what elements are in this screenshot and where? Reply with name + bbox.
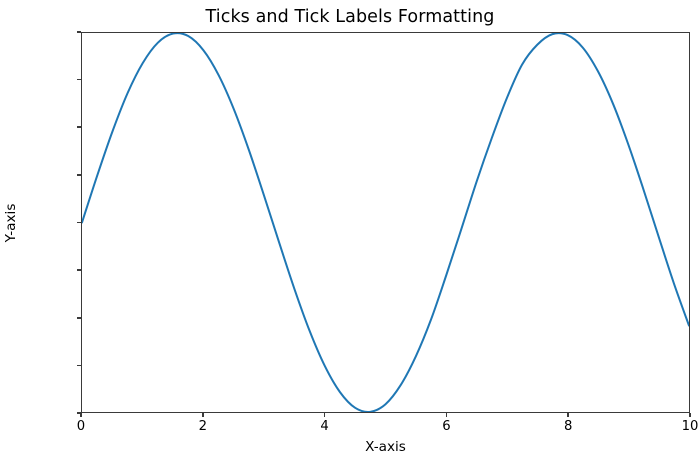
x-axis-tick-label: 2 — [143, 419, 263, 434]
line-series-svg — [82, 33, 689, 412]
x-axis-tick-label: 10 — [630, 419, 700, 434]
x-axis-tick-label: 6 — [386, 419, 506, 434]
x-axis-tick-label: 8 — [508, 419, 628, 434]
line-series-sin — [82, 33, 689, 412]
y-axis-label-container: Y-axis — [0, 32, 22, 413]
page-title: Ticks and Tick Labels Formatting — [0, 7, 700, 27]
x-axis-tick-mark — [324, 413, 326, 417]
matplotlib-figure: Ticks and Tick Labels Formatting Y-axis … — [0, 0, 700, 464]
x-axis-tick-mark — [80, 413, 82, 417]
x-axis-tick-mark — [689, 413, 691, 417]
x-axis-label: X-axis — [81, 439, 690, 455]
x-axis-tick-mark — [567, 413, 569, 417]
x-axis-tick-mark — [446, 413, 448, 417]
plot-area — [81, 32, 690, 413]
x-axis-tick-label: 4 — [265, 419, 385, 434]
x-axis-tick-mark — [202, 413, 204, 417]
y-axis-label: Y-axis — [3, 203, 19, 242]
x-axis-tick-label: 0 — [21, 419, 141, 434]
